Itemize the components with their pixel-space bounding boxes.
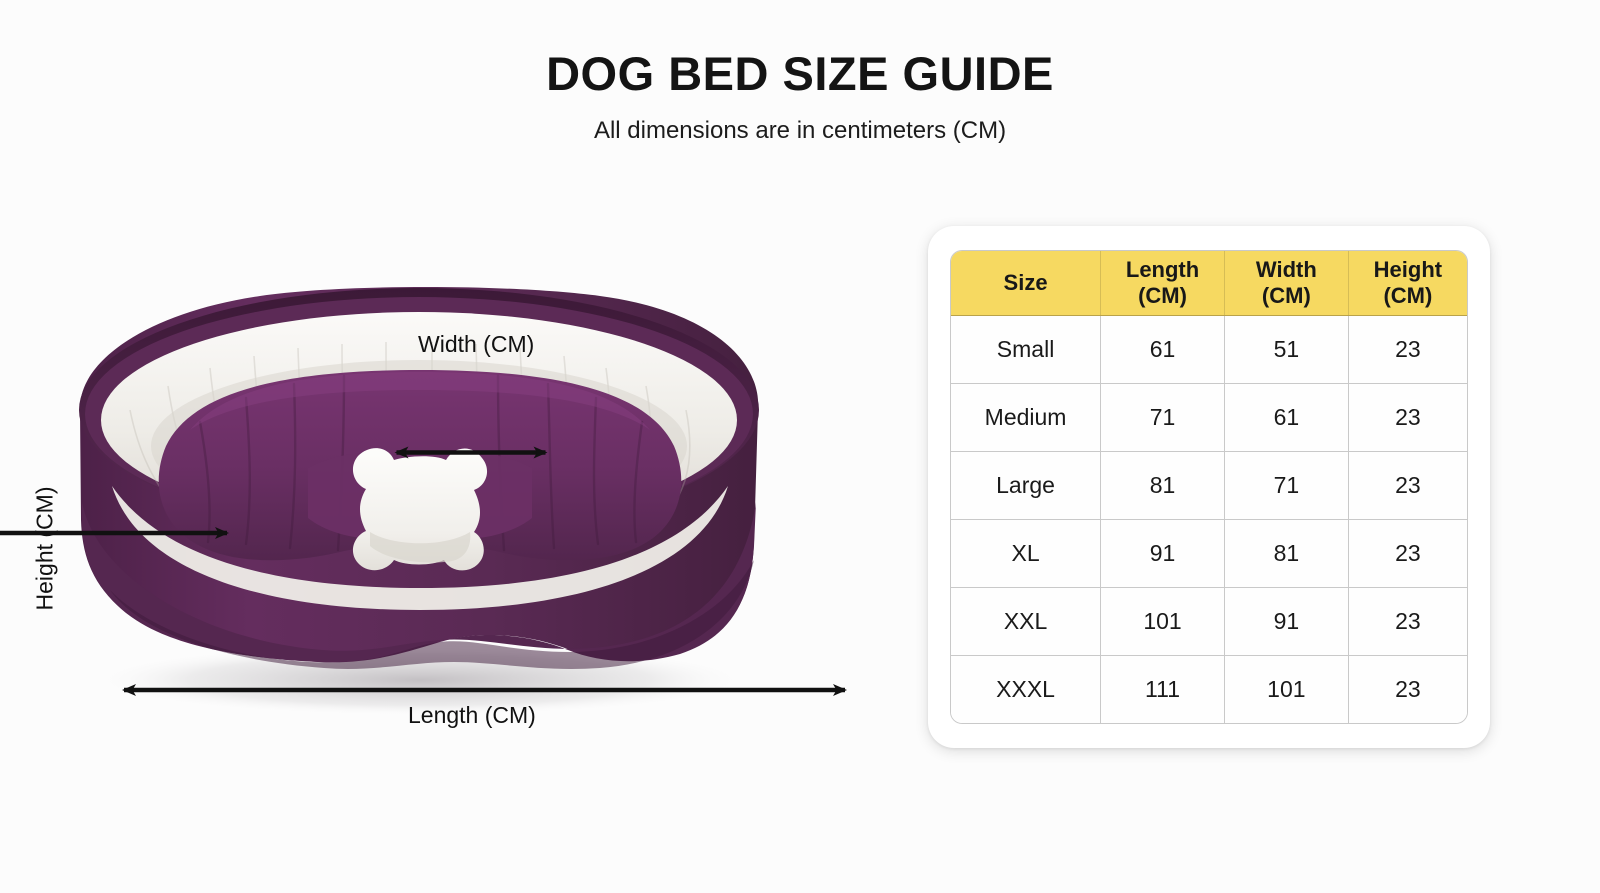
col-header-size: Size: [951, 251, 1101, 315]
table-row: XXXL 111 101 23: [951, 655, 1467, 723]
cell-width: 81: [1224, 519, 1348, 587]
table-row: Large 81 71 23: [951, 451, 1467, 519]
cell-size: XL: [951, 519, 1101, 587]
cell-size: XXXL: [951, 655, 1101, 723]
cell-size: Medium: [951, 383, 1101, 451]
page-header: DOG BED SIZE GUIDE All dimensions are in…: [0, 0, 1600, 145]
cell-length: 61: [1101, 315, 1225, 383]
col-header-height-line1: Height: [1374, 257, 1442, 282]
size-table-wrapper: Size Length (CM) Width (CM) Height (CM: [950, 250, 1468, 724]
cell-height: 23: [1348, 587, 1467, 655]
cell-length: 91: [1101, 519, 1225, 587]
cell-width: 91: [1224, 587, 1348, 655]
width-dimension-label: Width (CM): [418, 331, 534, 358]
cell-size: XXL: [951, 587, 1101, 655]
cell-size: Large: [951, 451, 1101, 519]
cell-height: 23: [1348, 315, 1467, 383]
cell-size: Small: [951, 315, 1101, 383]
table-row: Small 61 51 23: [951, 315, 1467, 383]
cell-length: 111: [1101, 655, 1225, 723]
col-header-length-line1: Length: [1126, 257, 1199, 282]
page-subtitle: All dimensions are in centimeters (CM): [0, 117, 1600, 145]
cell-width: 61: [1224, 383, 1348, 451]
table-row: XL 91 81 23: [951, 519, 1467, 587]
col-header-width: Width (CM): [1224, 251, 1348, 315]
col-header-length-line2: (CM): [1138, 283, 1187, 308]
table-row: XXL 101 91 23: [951, 587, 1467, 655]
col-header-width-line1: Width: [1256, 257, 1317, 282]
table-header-row: Size Length (CM) Width (CM) Height (CM: [951, 251, 1467, 315]
col-header-height: Height (CM): [1348, 251, 1467, 315]
cell-height: 23: [1348, 655, 1467, 723]
cell-height: 23: [1348, 519, 1467, 587]
cell-width: 71: [1224, 451, 1348, 519]
table-row: Medium 71 61 23: [951, 383, 1467, 451]
size-table-card: Size Length (CM) Width (CM) Height (CM: [928, 226, 1490, 748]
cell-length: 101: [1101, 587, 1225, 655]
cell-width: 101: [1224, 655, 1348, 723]
page-title: DOG BED SIZE GUIDE: [0, 48, 1600, 100]
col-header-length: Length (CM): [1101, 251, 1225, 315]
col-header-size-line1: Size: [1004, 270, 1048, 295]
size-guide-page: DOG BED SIZE GUIDE All dimensions are in…: [0, 0, 1600, 893]
length-dimension-label: Length (CM): [408, 702, 536, 729]
size-table-head: Size Length (CM) Width (CM) Height (CM: [951, 251, 1467, 315]
col-header-width-line2: (CM): [1262, 283, 1311, 308]
size-table-body: Small 61 51 23 Medium 71 61 23 Large 81: [951, 315, 1467, 723]
cell-length: 81: [1101, 451, 1225, 519]
cell-height: 23: [1348, 383, 1467, 451]
col-header-height-line2: (CM): [1383, 283, 1432, 308]
cell-length: 71: [1101, 383, 1225, 451]
cell-width: 51: [1224, 315, 1348, 383]
cell-height: 23: [1348, 451, 1467, 519]
size-table: Size Length (CM) Width (CM) Height (CM: [951, 251, 1467, 723]
height-dimension-label: Height (CM): [31, 487, 58, 611]
